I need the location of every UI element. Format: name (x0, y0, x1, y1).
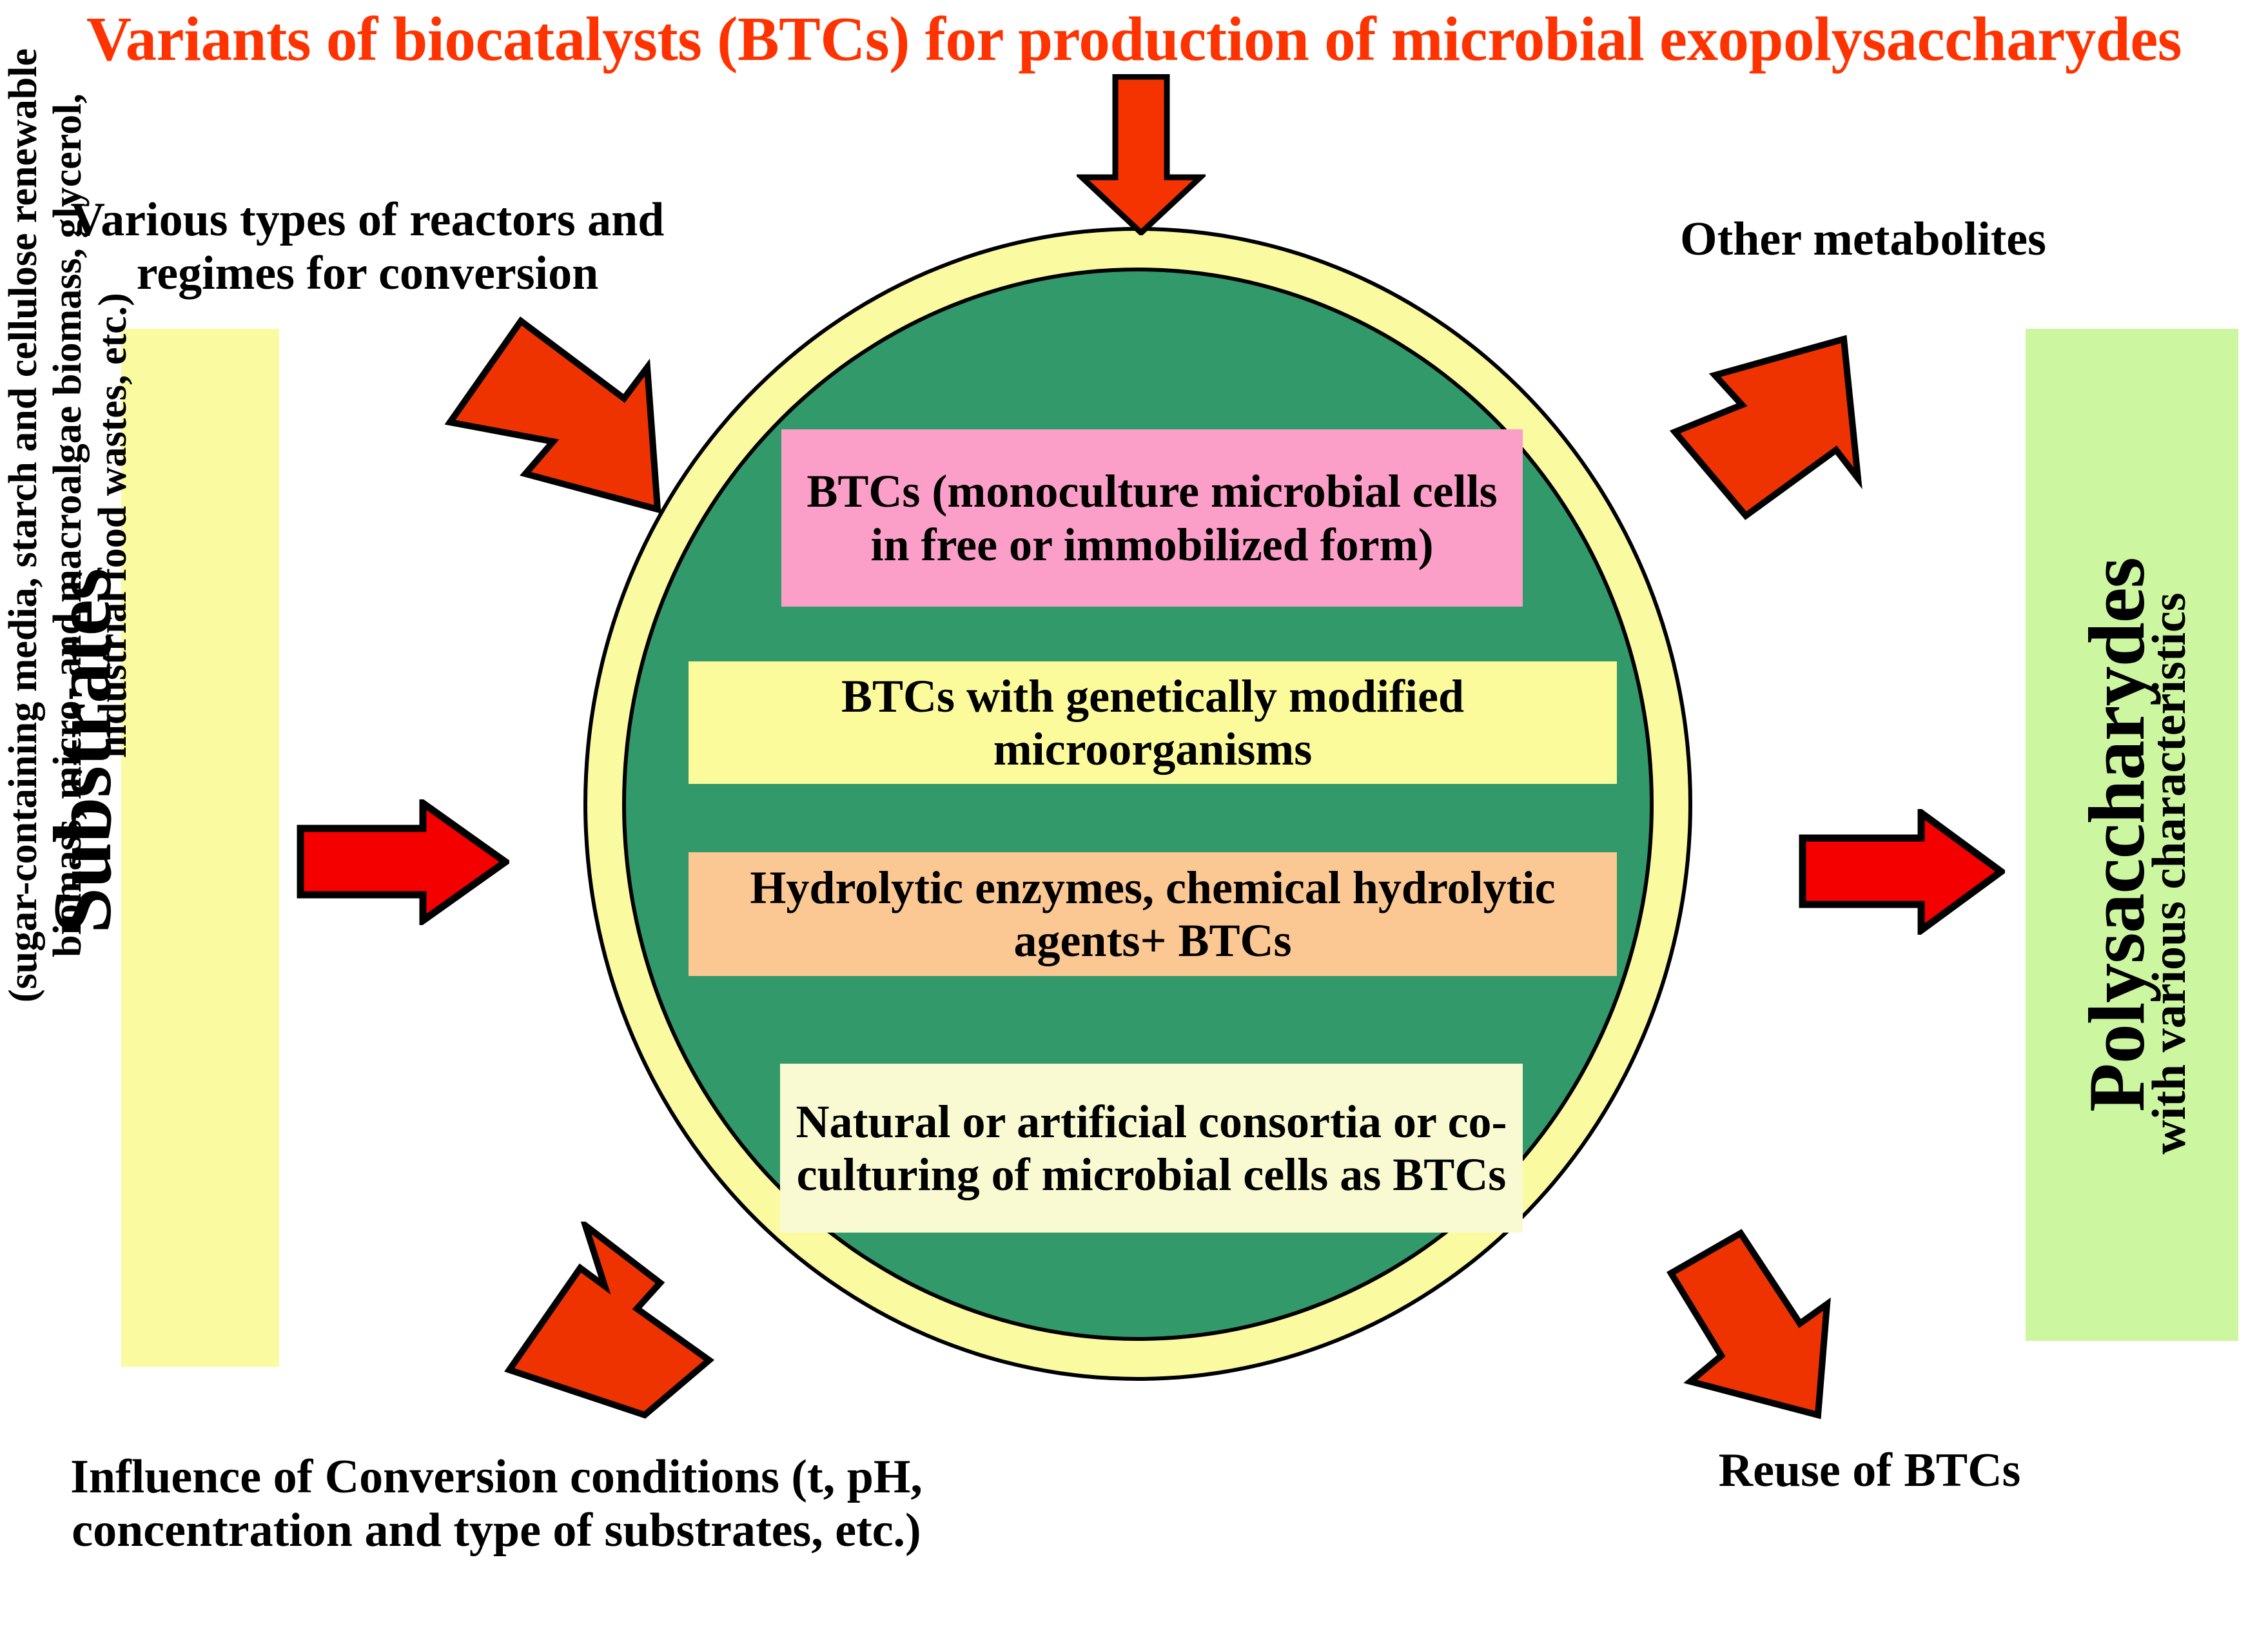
arrow-circle-to-reuse-icon (1657, 1228, 1857, 1421)
arrow-down-into-circle-icon (1077, 74, 1206, 235)
circle-item-hydrolytic-enzymes: Hydrolytic enzymes, chemical hydrolytic … (689, 852, 1617, 976)
diagram-canvas: Variants of biocatalysts (BTCs) for prod… (0, 0, 2268, 1640)
circle-item-monoculture: BTCs (monoculture microbial cells in fre… (781, 429, 1523, 607)
label-conversion-conditions: Influence of Conversion conditions (t, p… (39, 1450, 954, 1557)
arrow-diagonal-conditions-into-circle-icon (490, 1222, 716, 1428)
arrow-circle-to-polysaccharydes-icon (1799, 809, 2005, 935)
circle-item-consortia: Natural or artificial consortia or co-cu… (780, 1064, 1523, 1233)
polysaccharydes-subheading: with various characteristics (2142, 367, 2207, 1380)
arrow-diagonal-reactors-into-circle-icon (445, 316, 670, 535)
label-reuse-of-btcs: Reuse of BTCs (1592, 1444, 2147, 1498)
substrates-description: (sugar-containing media, starch and cell… (1, 6, 156, 1044)
arrow-substrates-into-circle-icon (297, 799, 509, 925)
arrow-circle-to-other-metabolites-icon (1670, 329, 1870, 522)
page-title: Variants of biocatalysts (BTCs) for prod… (0, 6, 2268, 72)
circle-item-gmo: BTCs with genetically modified microorga… (689, 661, 1617, 784)
label-other-metabolites: Other metabolites (1586, 213, 2140, 266)
